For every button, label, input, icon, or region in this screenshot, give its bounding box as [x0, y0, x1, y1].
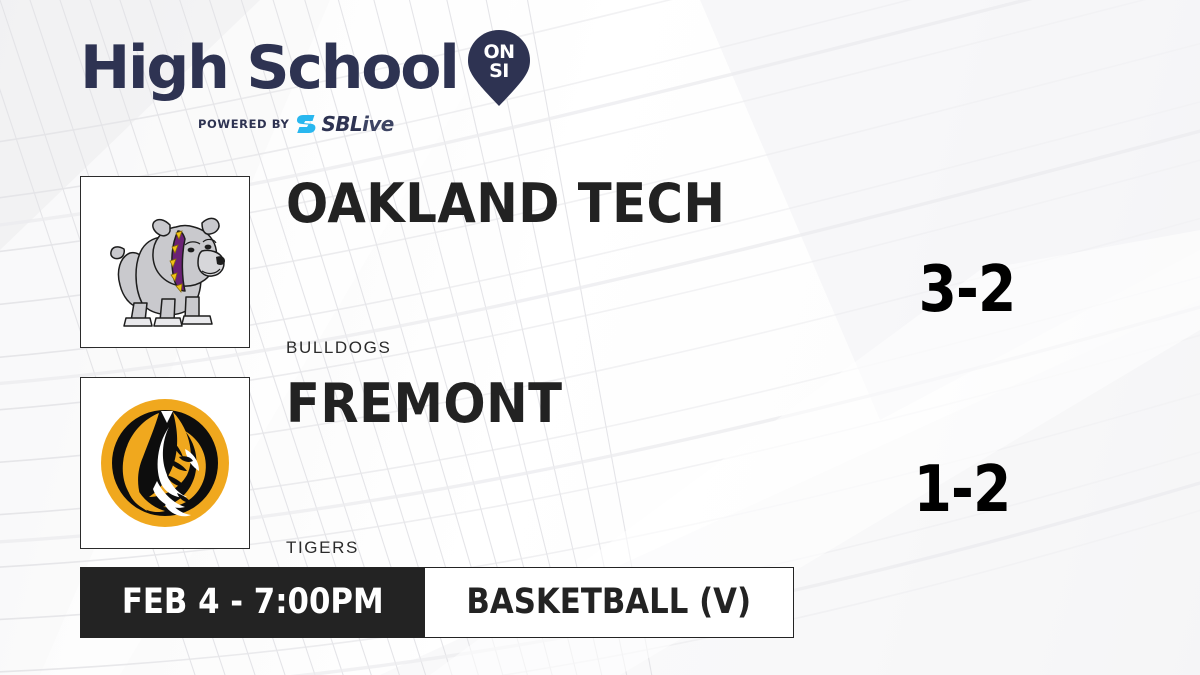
tiger-head-icon — [99, 397, 231, 529]
brand-title: High School — [80, 38, 458, 98]
game-datetime-label: FEB 4 - 7:00PM — [122, 585, 384, 620]
pin-text-si: SI — [489, 60, 509, 82]
sblive-bolt-icon — [296, 114, 318, 134]
powered-by-lockup: POWERED BY SBLive — [80, 112, 550, 136]
team-b-logo-box — [80, 377, 250, 549]
team-a-record: 3-2 — [881, 258, 1053, 322]
brand-lockup: High School ON SI — [80, 30, 550, 106]
game-datetime-chip: FEB 4 - 7:00PM — [80, 567, 425, 638]
sblive-wordmark: SBLive — [321, 112, 393, 136]
game-info-bar: FEB 4 - 7:00PM BASKETBALL (V) — [80, 567, 794, 638]
team-b-mascot: TIGERS — [286, 538, 359, 558]
game-sport-label: BASKETBALL (V) — [467, 585, 752, 620]
team-a-logo-box — [80, 176, 250, 348]
team-a-mascot: BULLDOGS — [286, 338, 391, 358]
team-b-record: 1-2 — [876, 458, 1048, 522]
sblive-tail: ive — [362, 112, 394, 136]
powered-by-label: POWERED BY — [198, 117, 289, 131]
matchup-graphic: High School ON SI POWERED BY SBLive — [0, 0, 1200, 675]
brand-header: High School ON SI POWERED BY SBLive — [80, 30, 550, 136]
game-sport-chip: BASKETBALL (V) — [425, 567, 794, 638]
team-b-name: FREMONT — [286, 377, 562, 431]
bulldog-mascot-icon — [90, 187, 240, 337]
sblive-logo: SBLive — [296, 112, 393, 136]
on-si-pin-icon: ON SI — [468, 30, 530, 106]
team-a-name: OAKLAND TECH — [286, 177, 725, 231]
sblive-main: SBL — [321, 112, 362, 136]
